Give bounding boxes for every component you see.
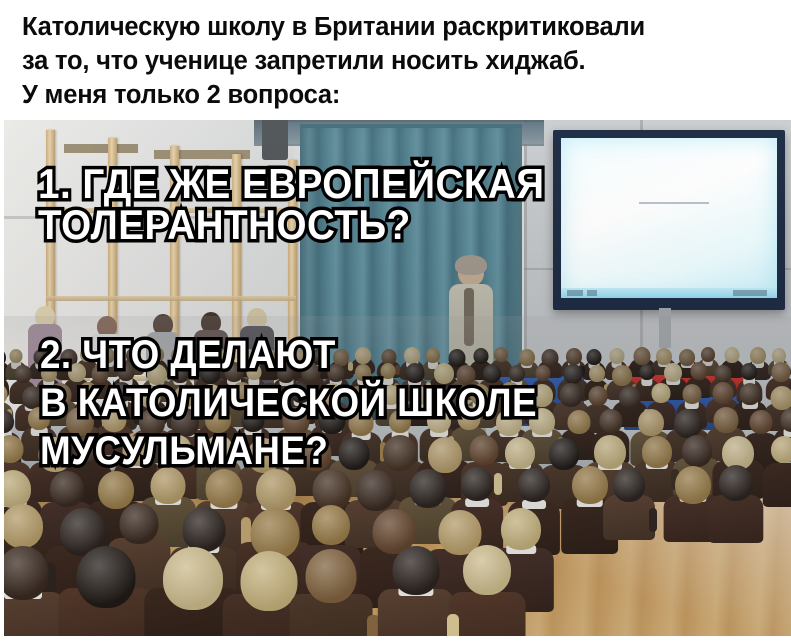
child-head [461, 467, 493, 501]
presenter-hair [455, 255, 487, 275]
child-head [339, 437, 370, 470]
seated-child [449, 545, 526, 636]
child-head [392, 546, 439, 595]
projector-screen-content-line [639, 202, 709, 204]
child-head [426, 348, 440, 363]
child-head [750, 410, 773, 434]
projector-screen-taskbar [561, 288, 777, 298]
child-head [10, 349, 23, 363]
wall-bar-bracket-1 [64, 144, 138, 153]
child-head [120, 503, 159, 544]
child-head [771, 436, 791, 463]
child-head [4, 384, 7, 404]
child-head [675, 466, 711, 504]
caption-line-1: Католическую школу в Британии раскритико… [22, 10, 791, 44]
taskbar-item-1 [567, 290, 583, 296]
child-head [356, 470, 395, 511]
child-head [501, 508, 541, 550]
seated-child [603, 468, 655, 540]
child-head [613, 468, 645, 502]
child-head [205, 469, 242, 508]
child-head [4, 410, 14, 433]
child-head [724, 347, 739, 363]
child-head [542, 349, 559, 367]
child-uniform [762, 463, 791, 507]
child-head [588, 386, 607, 406]
child-head [638, 409, 664, 436]
child-head [50, 471, 84, 507]
child-head [619, 386, 641, 409]
child-head [312, 505, 350, 545]
child-head [473, 348, 488, 364]
child-head [589, 365, 605, 382]
overlay-question1-line2: ТОЛЕРАНТНОСТЬ? [38, 201, 411, 249]
child-head [560, 383, 583, 407]
child-head [564, 364, 583, 384]
meme-image: Католическую школу в Британии раскритико… [0, 0, 791, 643]
child-head [483, 364, 501, 383]
child-uniform [449, 592, 526, 636]
child-head [306, 549, 357, 603]
child-head [470, 435, 499, 465]
child-ponytail [447, 614, 459, 636]
child-head [690, 362, 707, 380]
overlay-question2-line3: МУСУЛЬМАНЕ? [40, 429, 328, 474]
caption-block: Католическую школу в Британии раскритико… [0, 0, 791, 120]
child-head [664, 363, 682, 382]
caption-line-2: за то, что ученице запретили носить хидж… [22, 44, 791, 78]
child-head [256, 469, 296, 511]
seated-child [290, 549, 373, 636]
seated-child [4, 546, 65, 636]
projector-screen [553, 130, 785, 310]
child-head [4, 435, 23, 463]
child-head [599, 409, 622, 433]
child-head [14, 365, 31, 383]
child-head [463, 545, 511, 595]
child-head [594, 435, 626, 469]
seated-child [58, 546, 154, 636]
child-uniform [708, 495, 763, 543]
child-head [674, 409, 702, 438]
child-head [609, 348, 624, 364]
overlay-question2-line2: В КАТОЛИЧЕСКОЙ ШКОЛЕ [40, 381, 537, 426]
child-head [642, 436, 672, 468]
child-head [410, 469, 447, 508]
child-head [682, 384, 701, 404]
child-head [383, 435, 417, 471]
child-head [505, 437, 535, 469]
child-head [639, 364, 654, 380]
wall-bar-rung-2 [46, 296, 296, 301]
child-head [182, 507, 225, 552]
child-head [770, 386, 791, 410]
child-head [240, 551, 297, 611]
child-head [682, 435, 712, 467]
child-head [651, 383, 670, 403]
child-head [719, 465, 753, 501]
child-head [772, 348, 786, 363]
child-head [715, 365, 732, 383]
child-head [4, 546, 49, 600]
child-head [634, 347, 651, 365]
child-head [750, 347, 766, 364]
child-head [494, 347, 508, 362]
child-head [382, 349, 397, 365]
child-head [163, 547, 223, 610]
child-head [519, 349, 535, 366]
seated-child [762, 436, 791, 507]
child-head [612, 365, 632, 386]
child-head [404, 347, 420, 364]
child-head [572, 466, 608, 504]
seated-child [377, 546, 454, 636]
child-ponytail [649, 508, 657, 532]
child-head [712, 382, 733, 404]
seated-child [708, 465, 763, 543]
child-head [77, 546, 136, 608]
child-head [355, 347, 371, 364]
child-head [741, 363, 757, 380]
caption-line-3: У меня только 2 вопроса: [22, 78, 791, 112]
child-head [656, 348, 672, 365]
child-head [509, 365, 525, 382]
child-head [701, 347, 715, 362]
child-head [714, 407, 739, 433]
child-head [4, 504, 43, 548]
child-head [740, 383, 761, 405]
child-head [380, 363, 395, 379]
child-head [355, 364, 371, 381]
projector-screen-surface [561, 138, 777, 298]
taskbar-item-3 [733, 290, 767, 296]
taskbar-item-2 [587, 290, 597, 296]
child-head [567, 410, 590, 434]
child-head [536, 365, 551, 381]
speaker-box [262, 120, 288, 160]
overlay-question2-line1: 2. ЧТО ДЕЛАЮТ [40, 333, 336, 378]
child-head [518, 468, 550, 502]
